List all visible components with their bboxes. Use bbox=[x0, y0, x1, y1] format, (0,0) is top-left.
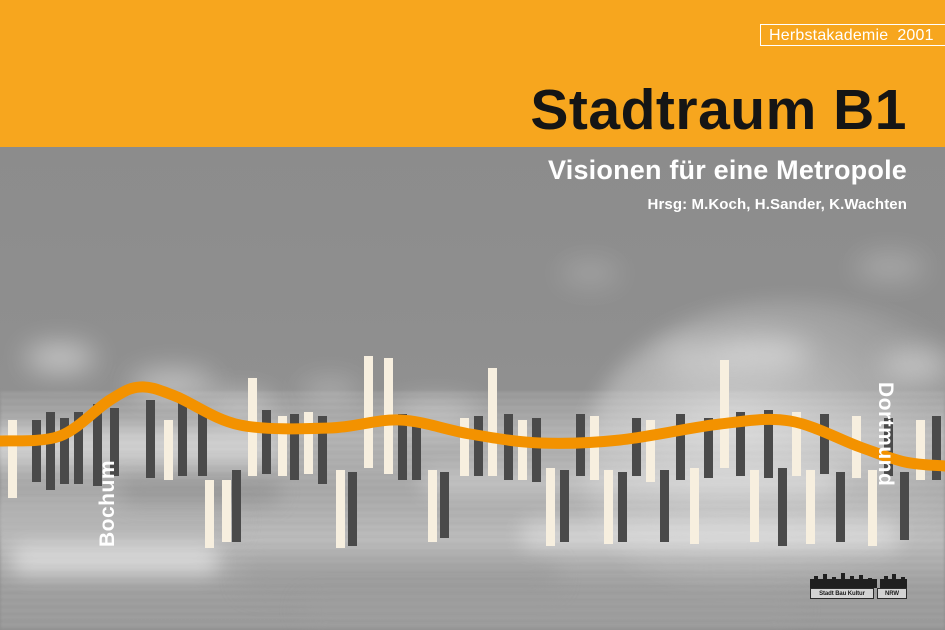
herbstakademie-year: 2001 bbox=[897, 27, 933, 45]
skyline-icon bbox=[810, 572, 907, 588]
logo-name: Stadt Bau Kultur bbox=[810, 588, 874, 599]
city-label-dortmund: Dortmund bbox=[873, 382, 897, 486]
publisher-logo: Stadt Bau Kultur NRW bbox=[810, 572, 907, 599]
logo-region: NRW bbox=[877, 588, 907, 599]
herbstakademie-label: Herbstakademie bbox=[769, 27, 888, 45]
editors-line: Hrsg: M.Koch, H.Sander, K.Wachten bbox=[648, 196, 907, 213]
city-label-bochum: Bochum bbox=[96, 460, 120, 547]
page-title: Stadtraum B1 bbox=[530, 82, 907, 139]
herbstakademie-badge: Herbstakademie 2001 bbox=[760, 24, 945, 46]
book-cover: Bochum Dortmund Herbstakademie 2001 Stad… bbox=[0, 0, 945, 630]
page-subtitle: Visionen für eine Metropole bbox=[548, 155, 907, 186]
logo-text-row: Stadt Bau Kultur NRW bbox=[810, 588, 907, 599]
orange-profile-line bbox=[0, 330, 945, 510]
